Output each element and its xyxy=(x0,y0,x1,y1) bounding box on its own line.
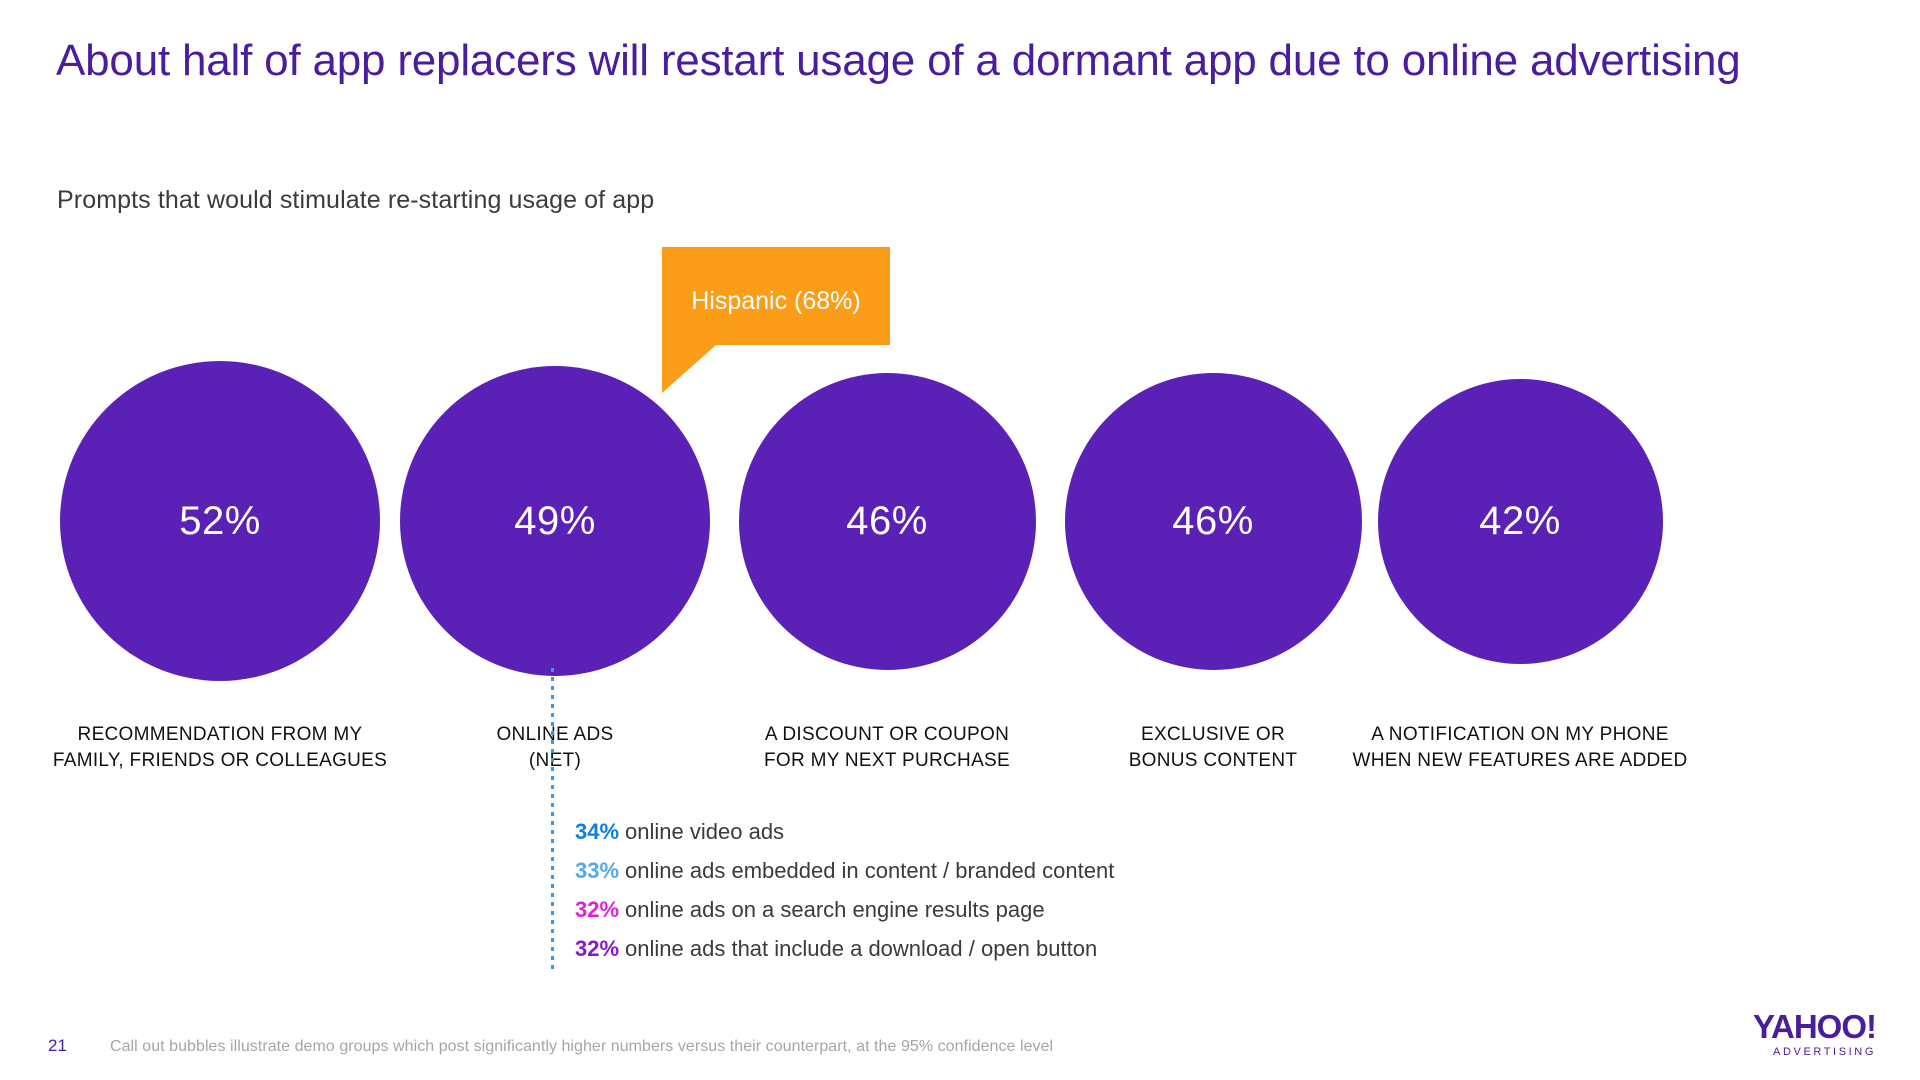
bubble-label-4-line-1: WHEN NEW FEATURES ARE ADDED xyxy=(1320,748,1720,774)
breakdown-item-3-percent: 32% xyxy=(575,936,619,961)
bubble-column-3: 46% xyxy=(1033,355,1393,670)
callout-bubble: Hispanic (68%) xyxy=(662,247,890,345)
breakdown-item-1: 33%online ads embedded in content / bran… xyxy=(575,851,1475,890)
bubble-value-3[interactable]: 46% xyxy=(1065,373,1362,670)
breakdown-item-0-percent: 34% xyxy=(575,819,619,844)
bubble-label-4-line-0: A NOTIFICATION ON MY PHONE xyxy=(1320,722,1720,748)
bubble-value-4[interactable]: 42% xyxy=(1378,379,1663,664)
callout-bubble-label: Hispanic (68%) xyxy=(662,247,890,345)
yahoo-tagline: ADVERTISING xyxy=(1753,1047,1876,1058)
bubble-column-0: 52% xyxy=(40,355,400,681)
breakdown-item-1-percent: 33% xyxy=(575,858,619,883)
breakdown-connector-line xyxy=(551,668,554,973)
bubble-column-1: 49% xyxy=(375,355,735,676)
breakdown-item-2-percent: 32% xyxy=(575,897,619,922)
breakdown-item-0: 34%online video ads xyxy=(575,812,1475,851)
page-number: 21 xyxy=(48,1036,67,1056)
footnote: Call out bubbles illustrate demo groups … xyxy=(110,1038,1053,1056)
bubble-value-1[interactable]: 49% xyxy=(400,366,710,676)
bubble-value-0[interactable]: 52% xyxy=(60,361,380,681)
page-title: About half of app replacers will restart… xyxy=(56,34,1856,88)
breakdown-item-2-label: online ads on a search engine results pa… xyxy=(625,897,1045,922)
breakdown-list: 34%online video ads 33%online ads embedd… xyxy=(575,812,1475,968)
breakdown-item-3-label: online ads that include a download / ope… xyxy=(625,936,1097,961)
bubble-label-4: A NOTIFICATION ON MY PHONE WHEN NEW FEAT… xyxy=(1320,722,1720,773)
yahoo-advertising-logo: YAHOO! ADVERTISING xyxy=(1753,1010,1876,1058)
bubble-value-2[interactable]: 46% xyxy=(739,373,1036,670)
bubble-column-2: 46% xyxy=(707,355,1067,670)
bubble-column-4: 42% xyxy=(1340,355,1700,664)
bubble-chart: 52% 49% 46% 46% 42% xyxy=(0,355,1920,775)
breakdown-item-1-label: online ads embedded in content / branded… xyxy=(625,858,1114,883)
breakdown-item-0-label: online video ads xyxy=(625,819,784,844)
page-subtitle: Prompts that would stimulate re-starting… xyxy=(57,186,654,215)
yahoo-wordmark: YAHOO! xyxy=(1753,1010,1876,1043)
breakdown-item-2: 32%online ads on a search engine results… xyxy=(575,890,1475,929)
breakdown-item-3: 32%online ads that include a download / … xyxy=(575,929,1475,968)
